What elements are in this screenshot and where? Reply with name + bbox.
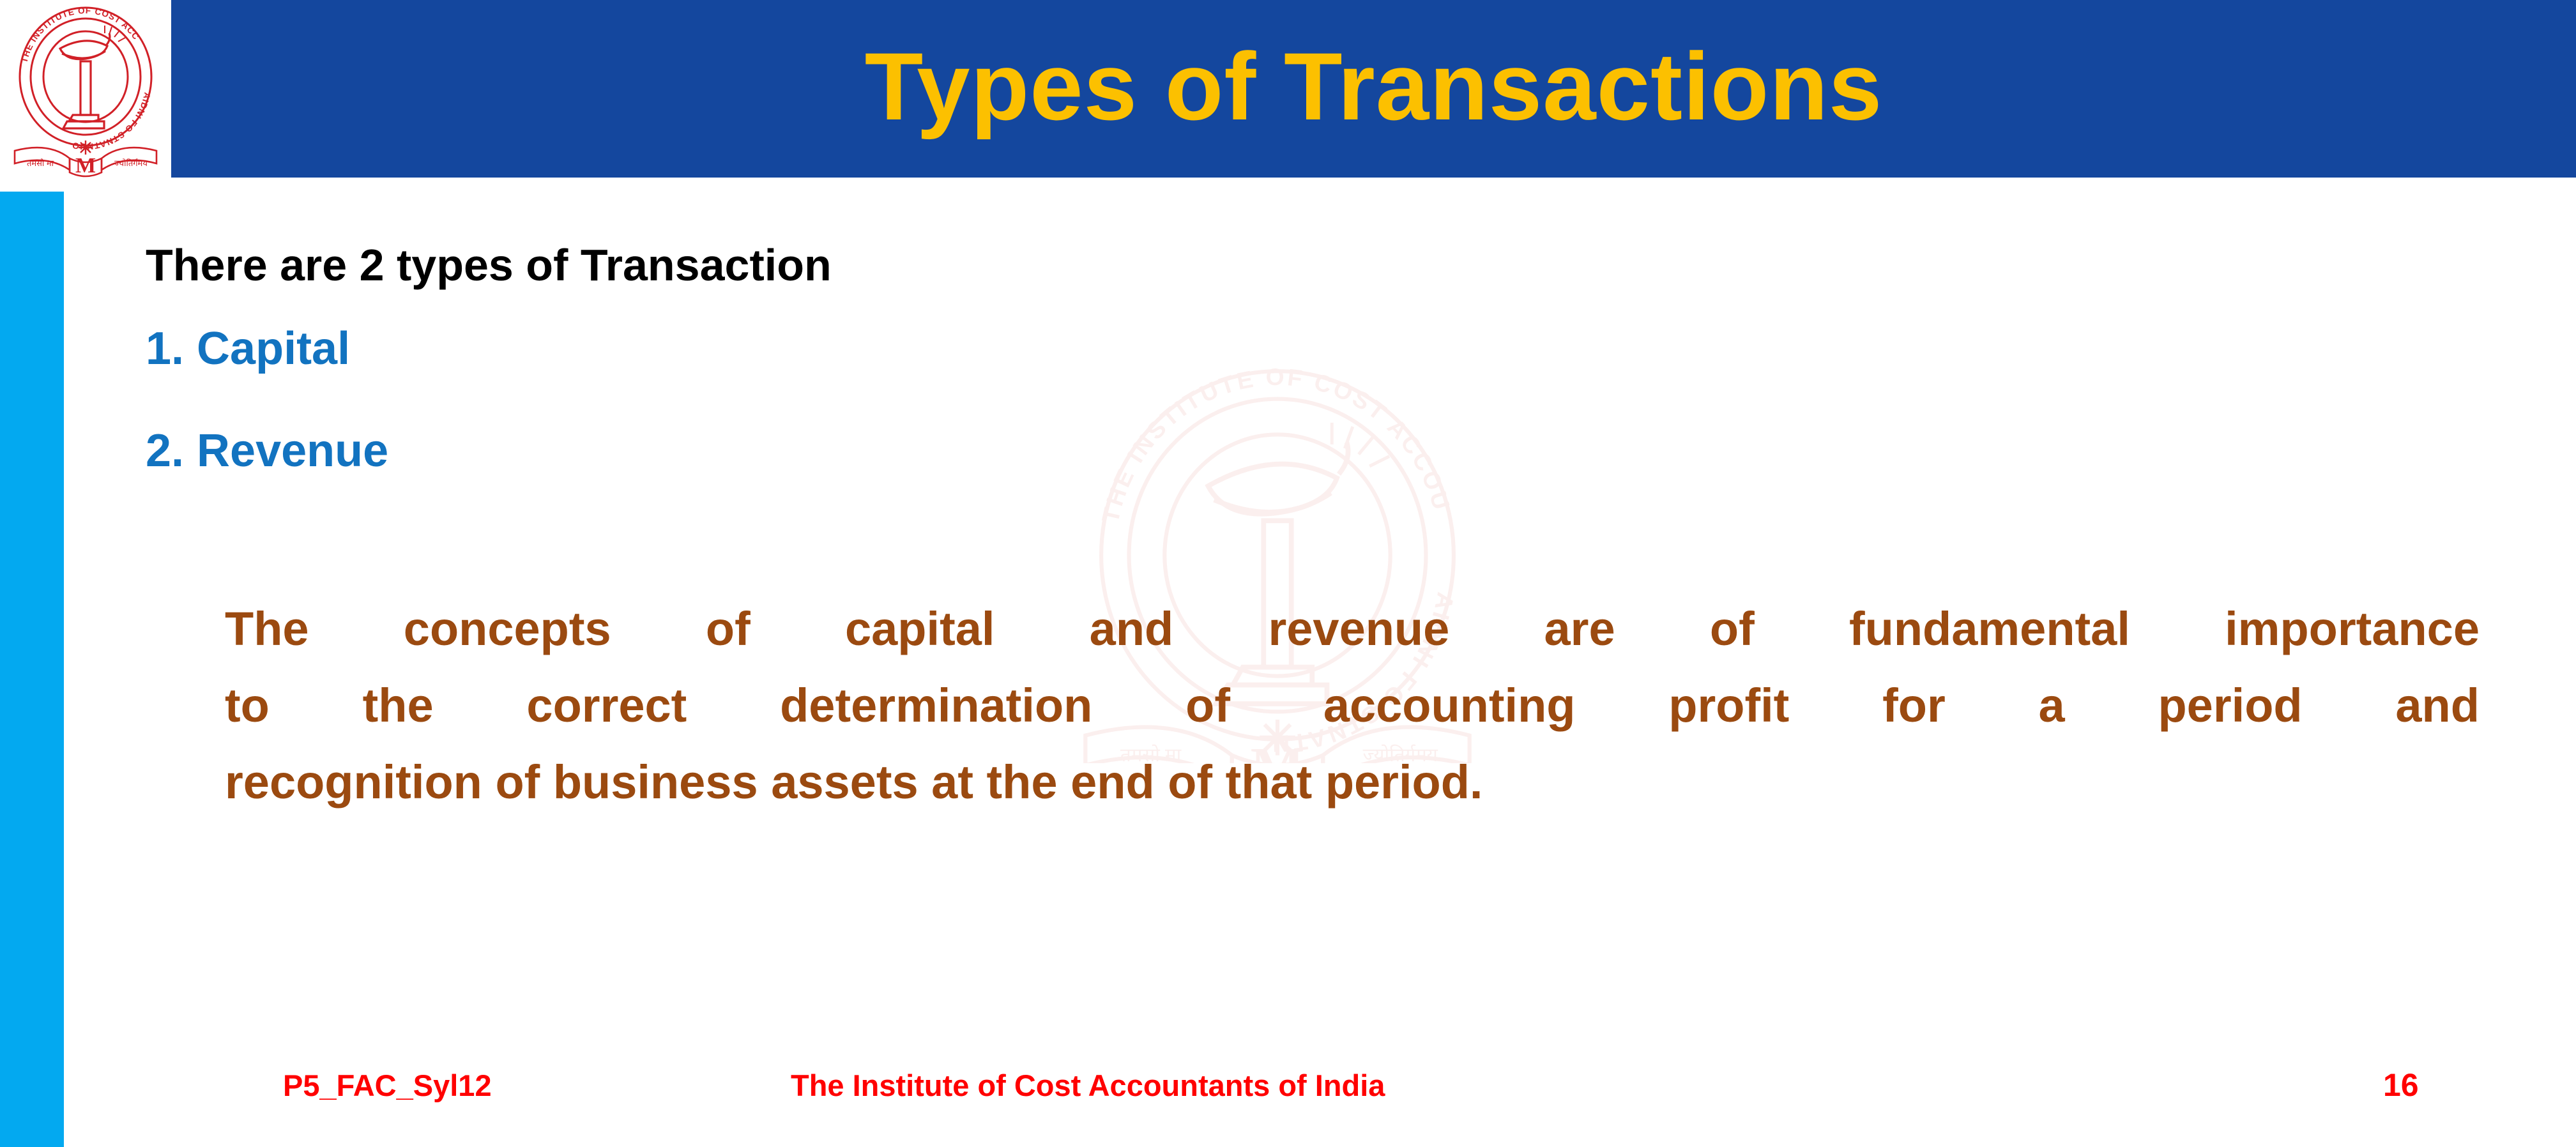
slide-header-bar: Types of Transactions — [171, 0, 2576, 178]
paragraph-word: are — [1544, 591, 1615, 667]
paragraph-word: The — [225, 591, 309, 667]
paragraph-line-2: tothecorrectdeterminationofaccountingpro… — [225, 667, 2480, 744]
intro-statement: There are 2 types of Transaction — [146, 239, 832, 291]
paragraph-word: of — [1185, 667, 1230, 744]
paragraph-word: accounting — [1323, 667, 1576, 744]
footer-institute-name: The Institute of Cost Accountants of Ind… — [791, 1068, 1385, 1103]
footer-subject-code: P5_FAC_Syl12 — [283, 1068, 492, 1103]
paragraph-word: determination — [780, 667, 1092, 744]
presentation-slide: THE INSTITUTE OF COST ACC AIDNI FO STNAT… — [0, 0, 2576, 1147]
slide-footer: P5_FAC_Syl12 The Institute of Cost Accou… — [0, 1060, 2576, 1130]
concept-paragraph: Theconceptsofcapitalandrevenueareoffunda… — [225, 591, 2480, 821]
paragraph-word: a — [2039, 667, 2065, 744]
paragraph-word: importance — [2225, 591, 2480, 667]
paragraph-line-1: Theconceptsofcapitalandrevenueareoffunda… — [225, 591, 2480, 667]
paragraph-word: for — [1882, 667, 1946, 744]
footer-page-number: 16 — [2383, 1067, 2419, 1104]
list-item-capital: 1. Capital — [146, 326, 912, 372]
transaction-type-list: 1. Capital 2. Revenue — [146, 326, 912, 530]
paragraph-word: to — [225, 667, 270, 744]
svg-text:ज्योतिर्गमय: ज्योतिर्गमय — [114, 158, 148, 168]
slide-body: There are 2 types of Transaction 1. Capi… — [0, 182, 2576, 1051]
paragraph-word: profit — [1668, 667, 1789, 744]
svg-text:M: M — [75, 154, 96, 178]
svg-text:तमसो मा: तमसो मा — [27, 158, 54, 168]
paragraph-word: period — [2158, 667, 2302, 744]
paragraph-word: capital — [845, 591, 995, 667]
organization-logo: THE INSTITUTE OF COST ACC AIDNI FO STNAT… — [0, 0, 171, 182]
list-item-revenue: 2. Revenue — [146, 428, 912, 474]
paragraph-word: the — [363, 667, 434, 744]
paragraph-word: concepts — [404, 591, 611, 667]
paragraph-line-3: recognition of business assets at the en… — [225, 744, 2480, 821]
paragraph-word: and — [1090, 591, 1174, 667]
paragraph-word: revenue — [1268, 591, 1449, 667]
paragraph-word: and — [2395, 667, 2480, 744]
paragraph-word: correct — [526, 667, 687, 744]
page-title: Types of Transactions — [865, 38, 1883, 134]
paragraph-word: fundamental — [1849, 591, 2130, 667]
paragraph-word: of — [706, 591, 751, 667]
paragraph-word: of — [1710, 591, 1755, 667]
